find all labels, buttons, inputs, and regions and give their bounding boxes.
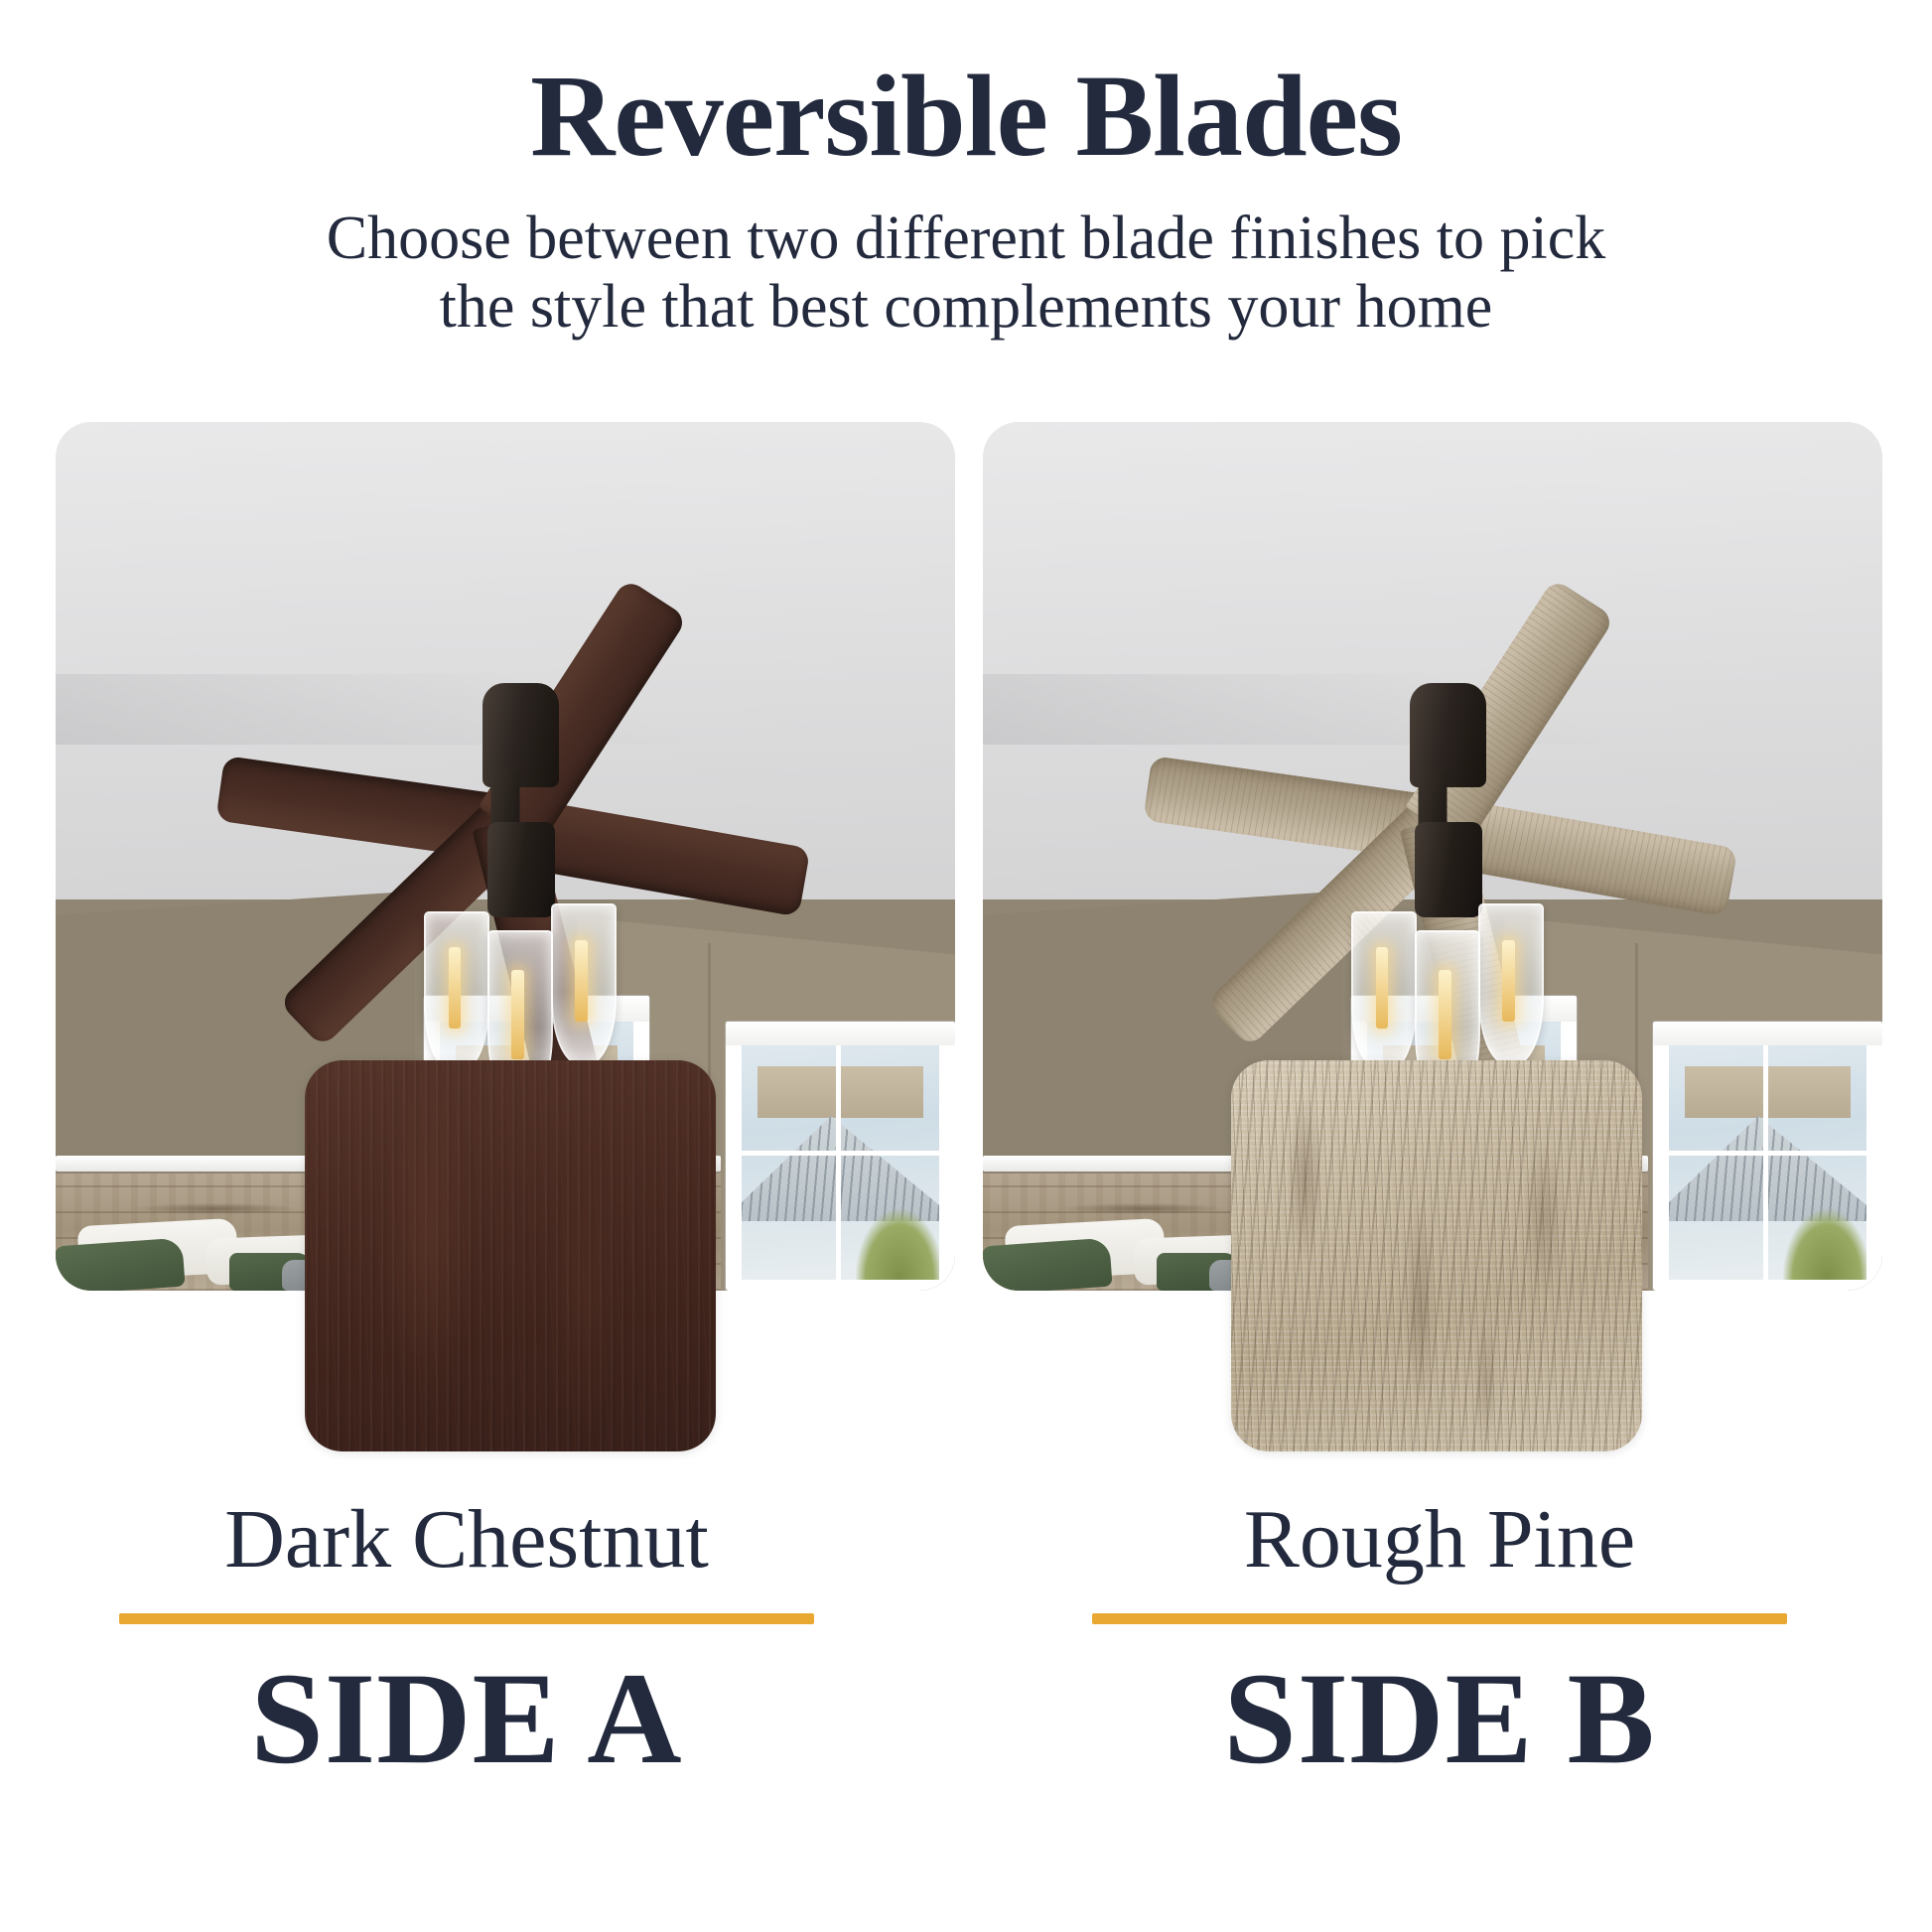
page-subtitle: Choose between two different blade finis… [0,205,1932,343]
subtitle-line-2: the style that best complements your hom… [0,273,1932,342]
side-label-a: SIDE A [30,1650,903,1788]
glass-shade [551,903,617,1064]
caption-side-a: Dark Chestnut SIDE A [30,1494,903,1788]
gold-divider [1092,1613,1787,1624]
finish-name-side-b: Rough Pine [1003,1494,1876,1586]
photo-row [0,422,1932,1296]
glass-shade [1351,911,1417,1072]
infographic-page: Reversible Blades Choose between two dif… [0,0,1932,1932]
header: Reversible Blades Choose between two dif… [0,58,1932,343]
subtitle-line-1: Choose between two different blade finis… [0,205,1932,273]
glass-shade [424,911,489,1072]
finish-name-side-a: Dark Chestnut [30,1494,903,1586]
rough-pine-texture [1231,1060,1642,1451]
dark-chestnut-swatch[interactable] [305,1060,716,1451]
gold-divider [119,1613,814,1624]
dark-chestnut-texture [305,1060,716,1451]
page-title: Reversible Blades [0,58,1932,175]
caption-side-b: Rough Pine SIDE B [1003,1494,1876,1788]
side-label-b: SIDE B [1003,1650,1876,1788]
glass-shade [1478,903,1544,1064]
rough-pine-swatch[interactable] [1231,1060,1642,1451]
